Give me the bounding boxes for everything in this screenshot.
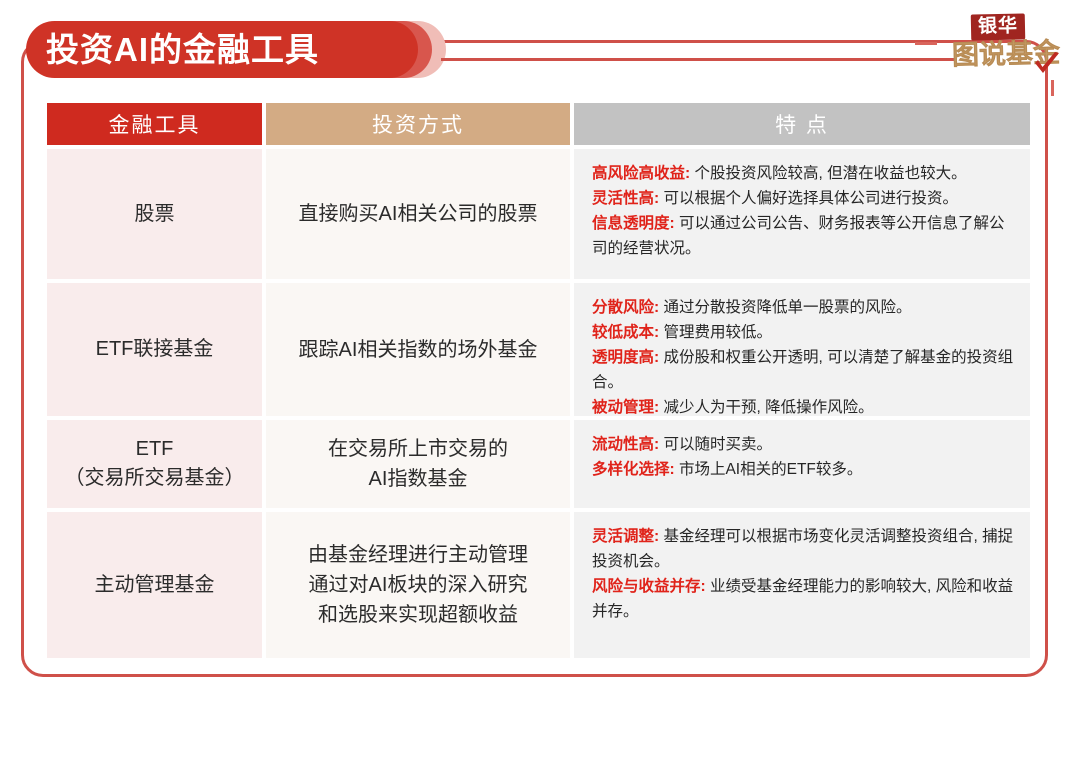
cell-tool-name: ETF联接基金 [47, 283, 262, 416]
cell-investment-method: 由基金经理进行主动管理通过对AI板块的深入研究和选股来实现超额收益 [266, 512, 570, 658]
column-header-features: 特 点 [574, 103, 1030, 145]
cell-tool-name: 股票 [47, 149, 262, 279]
feature-item: 风险与收益并存: 业绩受基金经理能力的影响较大, 风险和收益并存。 [592, 574, 1014, 624]
feature-key: 灵活性高: [592, 190, 663, 207]
column-header-tool: 金融工具 [47, 103, 262, 145]
cell-features: 分散风险: 通过分散投资降低单一股票的风险。较低成本: 管理费用较低。透明度高:… [574, 283, 1030, 416]
table-header-row: 金融工具 投资方式 特 点 [47, 103, 1030, 145]
check-icon [1033, 52, 1061, 78]
feature-item: 透明度高: 成份股和权重公开透明, 可以清楚了解基金的投资组合。 [592, 345, 1014, 395]
table-row: ETF（交易所交易基金）在交易所上市交易的AI指数基金流动性高: 可以随时买卖。… [47, 420, 1030, 508]
feature-key: 多样化选择: [592, 461, 679, 478]
feature-key: 透明度高: [592, 349, 663, 366]
logo-dash-right [1051, 80, 1054, 96]
cell-investment-method: 在交易所上市交易的AI指数基金 [266, 420, 570, 508]
feature-key: 风险与收益并存: [592, 578, 710, 595]
feature-item: 信息透明度: 可以通过公司公告、财务报表等公开信息了解公司的经营状况。 [592, 211, 1014, 261]
page-header: 投资AI的金融工具 银华 图说基金 [0, 0, 1080, 100]
feature-key: 流动性高: [592, 436, 663, 453]
feature-item: 被动管理: 减少人为干预, 降低操作风险。 [592, 395, 1014, 420]
feature-item: 较低成本: 管理费用较低。 [592, 320, 1014, 345]
header-divider-line [441, 58, 956, 61]
title-pill: 投资AI的金融工具 [26, 21, 418, 78]
feature-value: 可以根据个人偏好选择具体公司进行投资。 [663, 190, 958, 207]
cell-features: 高风险高收益: 个股投资风险较高, 但潜在收益也较大。灵活性高: 可以根据个人偏… [574, 149, 1030, 279]
cell-investment-method: 跟踪AI相关指数的场外基金 [266, 283, 570, 416]
logo-brand-name: 银华 [978, 16, 1018, 38]
feature-value: 个股投资风险较高, 但潜在收益也较大。 [694, 165, 966, 182]
feature-item: 分散风险: 通过分散投资降低单一股票的风险。 [592, 295, 1014, 320]
cell-features: 灵活调整: 基金经理可以根据市场变化灵活调整投资组合, 捕捉投资机会。风险与收益… [574, 512, 1030, 658]
logo-badge: 银华 [971, 13, 1026, 40]
feature-value: 通过分散投资降低单一股票的风险。 [663, 299, 911, 316]
column-header-method: 投资方式 [266, 103, 570, 145]
feature-key: 高风险高收益: [592, 165, 694, 182]
feature-key: 灵活调整: [592, 528, 663, 545]
feature-key: 被动管理: [592, 399, 663, 416]
table-row: ETF联接基金跟踪AI相关指数的场外基金分散风险: 通过分散投资降低单一股票的风… [47, 283, 1030, 416]
feature-value: 减少人为干预, 降低操作风险。 [663, 399, 873, 416]
cell-investment-method: 直接购买AI相关公司的股票 [266, 149, 570, 279]
table-row: 主动管理基金由基金经理进行主动管理通过对AI板块的深入研究和选股来实现超额收益灵… [47, 512, 1030, 658]
feature-item: 灵活调整: 基金经理可以根据市场变化灵活调整投资组合, 捕捉投资机会。 [592, 524, 1014, 574]
feature-value: 管理费用较低。 [663, 324, 772, 341]
logo-dash-left [915, 42, 937, 45]
feature-item: 多样化选择: 市场上AI相关的ETF较多。 [592, 457, 1014, 482]
financial-tools-table: 金融工具 投资方式 特 点 股票直接购买AI相关公司的股票高风险高收益: 个股投… [47, 103, 1030, 658]
brand-logo: 银华 图说基金 [955, 14, 1067, 86]
feature-key: 分散风险: [592, 299, 663, 316]
cell-tool-name: ETF（交易所交易基金） [47, 420, 262, 508]
feature-key: 较低成本: [592, 324, 663, 341]
table-body: 股票直接购买AI相关公司的股票高风险高收益: 个股投资风险较高, 但潜在收益也较… [47, 149, 1030, 658]
cell-features: 流动性高: 可以随时买卖。多样化选择: 市场上AI相关的ETF较多。 [574, 420, 1030, 508]
feature-value: 可以随时买卖。 [663, 436, 772, 453]
feature-value: 市场上AI相关的ETF较多。 [679, 461, 862, 478]
page-title: 投资AI的金融工具 [46, 33, 319, 66]
feature-item: 灵活性高: 可以根据个人偏好选择具体公司进行投资。 [592, 186, 1014, 211]
cell-tool-name: 主动管理基金 [47, 512, 262, 658]
table-row: 股票直接购买AI相关公司的股票高风险高收益: 个股投资风险较高, 但潜在收益也较… [47, 149, 1030, 279]
feature-item: 流动性高: 可以随时买卖。 [592, 432, 1014, 457]
feature-item: 高风险高收益: 个股投资风险较高, 但潜在收益也较大。 [592, 161, 1014, 186]
feature-key: 信息透明度: [592, 215, 679, 232]
